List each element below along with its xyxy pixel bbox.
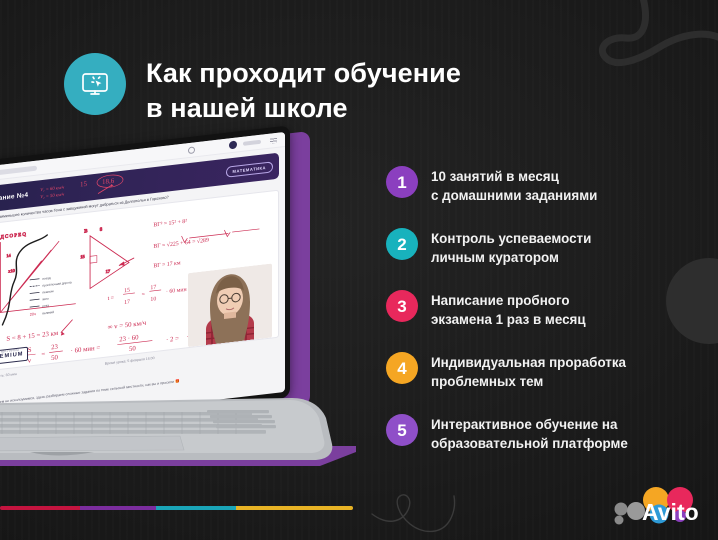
lesson-schedule: Время урока: 5 февраля 16:00	[105, 356, 155, 366]
svg-text:Д С О Р Е Q: Д С О Р Е Q	[1, 232, 27, 240]
laptop-screen: Задание №4 V₁ = 60 км/ч V₂ = 50 км/ч 15 …	[0, 132, 285, 428]
search-icon[interactable]	[188, 146, 195, 154]
svg-text:авто: авто	[42, 296, 49, 301]
list-item-line-2: личным куратором	[431, 248, 591, 267]
list-item: 5 Интерактивное обучение на образователь…	[386, 414, 706, 453]
list-badge-2: 2	[386, 228, 418, 260]
slide-canvas: Как проходит обучение в нашей школе 1 10…	[0, 0, 718, 540]
svg-text:23: 23	[51, 343, 58, 351]
svg-text:15: 15	[80, 254, 85, 260]
svg-text:ВГ = 17 км: ВГ = 17 км	[153, 260, 181, 269]
colorbar-segment	[80, 506, 156, 510]
svg-text:14: 14	[6, 253, 11, 259]
svg-text:S = 8 + 15 = 23 км: S = 8 + 15 = 23 км	[6, 330, 59, 343]
badge-number: 4	[397, 360, 406, 377]
svg-text:великий: великий	[42, 310, 54, 315]
svg-text:просёлочная дорога: просёлочная дорога	[42, 280, 72, 287]
badge-number: 1	[397, 174, 406, 191]
user-name-label	[243, 140, 261, 146]
address-bar[interactable]	[0, 165, 37, 175]
svg-text:В: В	[84, 229, 88, 234]
svg-text:23 · 60: 23 · 60	[119, 334, 139, 343]
svg-text:18,6: 18,6	[102, 177, 115, 186]
lesson-whiteboard: Д С О Р Е Q 14 x10 8 4 Г поезд	[0, 190, 279, 373]
colorbar-segment	[236, 506, 353, 510]
list-item: 4 Индивидуальная проработка проблемных т…	[386, 352, 706, 391]
list-item: 3 Написание пробного экзамена 1 раз в ме…	[386, 290, 706, 329]
list-item-line-2: с домашними заданиями	[431, 186, 597, 205]
list-item: 2 Контроль успеваемости личным куратором	[386, 228, 706, 267]
decorative-loop-icon	[584, 0, 718, 124]
list-item-line-1: Написание пробного	[431, 291, 586, 310]
avito-wordmark: Avito	[642, 499, 699, 525]
list-badge-5: 5	[386, 414, 418, 446]
page-title-line-1: Как проходит обучение	[146, 56, 461, 91]
list-item-text: 10 занятий в месяц с домашними заданиями	[431, 166, 597, 205]
avatar[interactable]	[229, 141, 237, 150]
list-item-text: Интерактивное обучение на образовательно…	[431, 414, 628, 453]
svg-text:поезд: поезд	[42, 276, 50, 281]
feature-list: 1 10 занятий в месяц с домашними задания…	[386, 166, 706, 476]
page-header: Как проходит обучение в нашей школе	[64, 53, 461, 125]
svg-text:50: 50	[129, 345, 136, 353]
accent-color-bar	[0, 506, 353, 510]
svg-text:17: 17	[150, 284, 156, 291]
hamburger-menu-icon[interactable]	[270, 137, 277, 143]
list-badge-4: 4	[386, 352, 418, 384]
task-title: Задание №4	[0, 191, 28, 203]
svg-text:15: 15	[124, 287, 130, 294]
svg-text:15: 15	[80, 180, 87, 189]
subject-chip: МАТЕМАТИКА	[226, 161, 273, 177]
svg-text:река: река	[42, 303, 49, 308]
svg-text:· 2 =: · 2 =	[166, 335, 179, 343]
lesson-duration: Длительность: 60 мин	[0, 372, 17, 380]
list-item-line-1: 10 занятий в месяц	[431, 167, 597, 186]
svg-text:x10: x10	[8, 268, 15, 274]
colorbar-segment	[156, 506, 236, 510]
svg-text:17: 17	[106, 268, 111, 274]
laptop-mockup: Задание №4 V₁ = 60 км/ч V₂ = 50 км/ч 15 …	[0, 148, 368, 466]
svg-text:20ч: 20ч	[30, 311, 36, 317]
laptop-base	[0, 388, 356, 470]
svg-text:8: 8	[100, 227, 103, 232]
list-item-text: Контроль успеваемости личным куратором	[431, 228, 591, 267]
page-title-line-2: в нашей школе	[146, 91, 461, 126]
list-item-line-2: образовательной платформе	[431, 434, 628, 453]
svg-text:t =: t =	[108, 295, 115, 302]
desktop-cursor-icon	[64, 53, 126, 115]
badge-number: 3	[397, 298, 406, 315]
decorative-loop-icon	[370, 478, 500, 540]
list-item-line-1: Контроль успеваемости	[431, 229, 591, 248]
avito-brand-name: Avito	[706, 487, 707, 488]
list-item-line-1: Интерактивное обучение на	[431, 415, 628, 434]
svg-text:ВГ² = 15² + 8²: ВГ² = 15² + 8²	[153, 219, 187, 229]
svg-text:50: 50	[51, 354, 58, 362]
list-item-text: Написание пробного экзамена 1 раз в меся…	[431, 290, 586, 329]
svg-text:ВГ = √225 + 64 = √289: ВГ = √225 + 64 = √289	[153, 236, 209, 249]
video-thumbnail[interactable]	[188, 263, 272, 347]
svg-text:17: 17	[124, 299, 130, 306]
svg-text:v: v	[28, 357, 32, 364]
task-formula-line-2: V₂ = 50 км/ч	[40, 190, 64, 200]
colorbar-segment	[0, 506, 80, 510]
svg-text:S: S	[28, 347, 32, 354]
list-badge-1: 1	[386, 166, 418, 198]
svg-text:· 60 мин =: · 60 мин =	[71, 344, 101, 354]
list-item-line-1: Индивидуальная проработка	[431, 353, 626, 372]
list-item-line-2: проблемных тем	[431, 372, 626, 391]
task-formula: V₁ = 60 км/ч V₂ = 50 км/ч	[40, 183, 64, 200]
list-item: 1 10 занятий в месяц с домашними задания…	[386, 166, 706, 205]
list-item-line-2: экзамена 1 раз в месяц	[431, 310, 586, 329]
list-badge-3: 3	[386, 290, 418, 322]
avito-logo: Avito Avito	[612, 487, 706, 527]
banner-annotation-icon: 15 18,6	[78, 172, 130, 200]
page-title: Как проходит обучение в нашей школе	[146, 53, 461, 125]
svg-text:10: 10	[150, 296, 156, 303]
premium-badge-label: PREMIUM	[0, 352, 23, 361]
svg-text:=: =	[41, 351, 45, 358]
list-item-text: Индивидуальная проработка проблемных тем	[431, 352, 626, 391]
badge-number: 5	[397, 422, 406, 439]
svg-text:∞ v = 50 км/ч: ∞ v = 50 км/ч	[108, 320, 147, 332]
badge-number: 2	[397, 236, 406, 253]
svg-text:пешком: пешком	[42, 289, 53, 294]
svg-text:=: =	[142, 291, 146, 297]
